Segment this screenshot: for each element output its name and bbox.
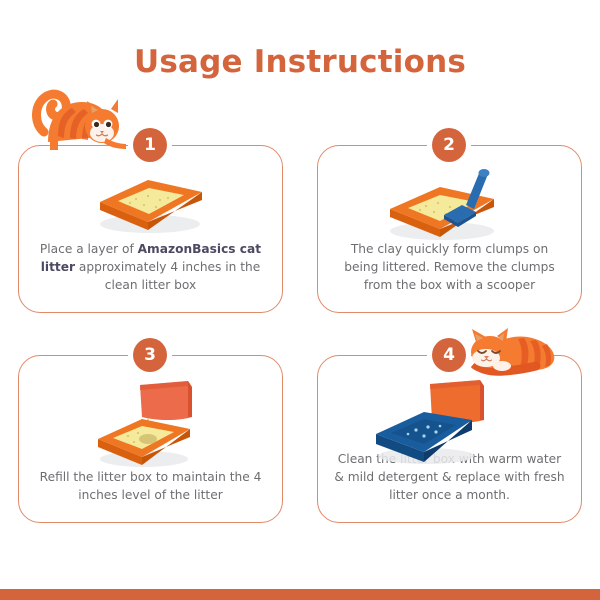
litter-box-with-litter-icon [92,172,210,239]
cat-stretching-icon [14,88,126,159]
infographic-page: Usage Instructions [0,0,600,600]
step-badge-1: 1 [133,128,167,162]
step-badge-2: 2 [432,128,466,162]
cat-sleeping-icon [452,318,572,381]
step-3-text: Refill the litter box to maintain the 4 … [33,468,268,504]
step-1-text-before: Place a layer of [40,242,138,256]
step-2-text-before: The clay quickly form clumps on being li… [344,242,554,292]
step-1-text: Place a layer of AmazonBasics cat litter… [33,240,268,294]
step-badge-3: 3 [133,338,167,372]
step-2-text: The clay quickly form clumps on being li… [332,240,567,294]
litter-box-with-scooper-icon [382,165,508,246]
page-title: Usage Instructions [0,44,600,80]
step-3-text-before: Refill the litter box to maintain the 4 … [40,470,262,502]
litter-bag-pouring-into-box-icon [92,375,224,472]
bottom-accent-bar [0,589,600,600]
blue-litter-box-with-detergent-icon [368,372,510,469]
step-1-text-after: approximately 4 inches in the clean litt… [75,260,260,292]
